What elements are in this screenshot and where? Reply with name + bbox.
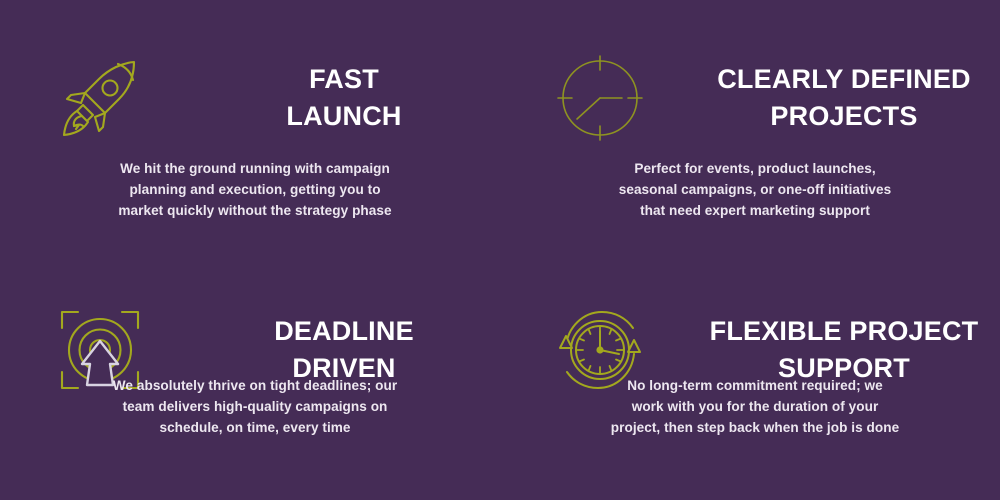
feature-description: No long-term commitment required; we wor… [550,375,960,438]
desc-line-1: No long-term commitment required; we [550,375,960,396]
feature-title: FAST LAUNCH [200,61,500,136]
feature-description: Perfect for events, product launches, se… [550,158,960,221]
desc-line-1: Perfect for events, product launches, [550,158,960,179]
title-line-1: FAST [200,61,488,98]
title-line-2: PROJECTS [700,98,988,135]
desc-line-2: seasonal campaigns, or one-off initiativ… [550,179,960,200]
title-line-1: FLEXIBLE PROJECT [700,313,988,350]
desc-line-3: project, then step back when the job is … [550,417,960,438]
feature-grid: FAST LAUNCH We hit the ground running wi… [0,0,1000,500]
desc-line-2: planning and execution, getting you to [50,179,460,200]
feature-grid-board: FAST LAUNCH We hit the ground running wi… [0,0,1000,500]
feature-card-deadline-driven: DEADLINE DRIVEN We absolutely thrive on … [0,250,500,500]
desc-line-2: work with you for the duration of your [550,396,960,417]
feature-description: We hit the ground running with campaign … [50,158,460,221]
title-line-1: DEADLINE [200,313,488,350]
feature-header: CLEARLY DEFINED PROJECTS [500,48,1000,148]
desc-line-3: market quickly without the strategy phas… [50,200,460,221]
feature-description: We absolutely thrive on tight deadlines;… [50,375,460,438]
desc-line-1: We absolutely thrive on tight deadlines;… [50,375,460,396]
title-line-1: CLEARLY DEFINED [700,61,988,98]
feature-card-fast-launch: FAST LAUNCH We hit the ground running wi… [0,0,500,250]
desc-line-3: schedule, on time, every time [50,417,460,438]
clock-icon [500,48,700,148]
feature-header: FAST LAUNCH [0,48,500,148]
desc-line-2: team delivers high-quality campaigns on [50,396,460,417]
feature-card-flexible-project-support: FLEXIBLE PROJECT SUPPORT No long-term co… [500,250,1000,500]
desc-line-1: We hit the ground running with campaign [50,158,460,179]
rocket-icon [0,48,200,148]
title-line-2: LAUNCH [200,98,488,135]
feature-card-clearly-defined-projects: CLEARLY DEFINED PROJECTS Perfect for eve… [500,0,1000,250]
feature-title: CLEARLY DEFINED PROJECTS [700,61,1000,136]
desc-line-3: that need expert marketing support [550,200,960,221]
